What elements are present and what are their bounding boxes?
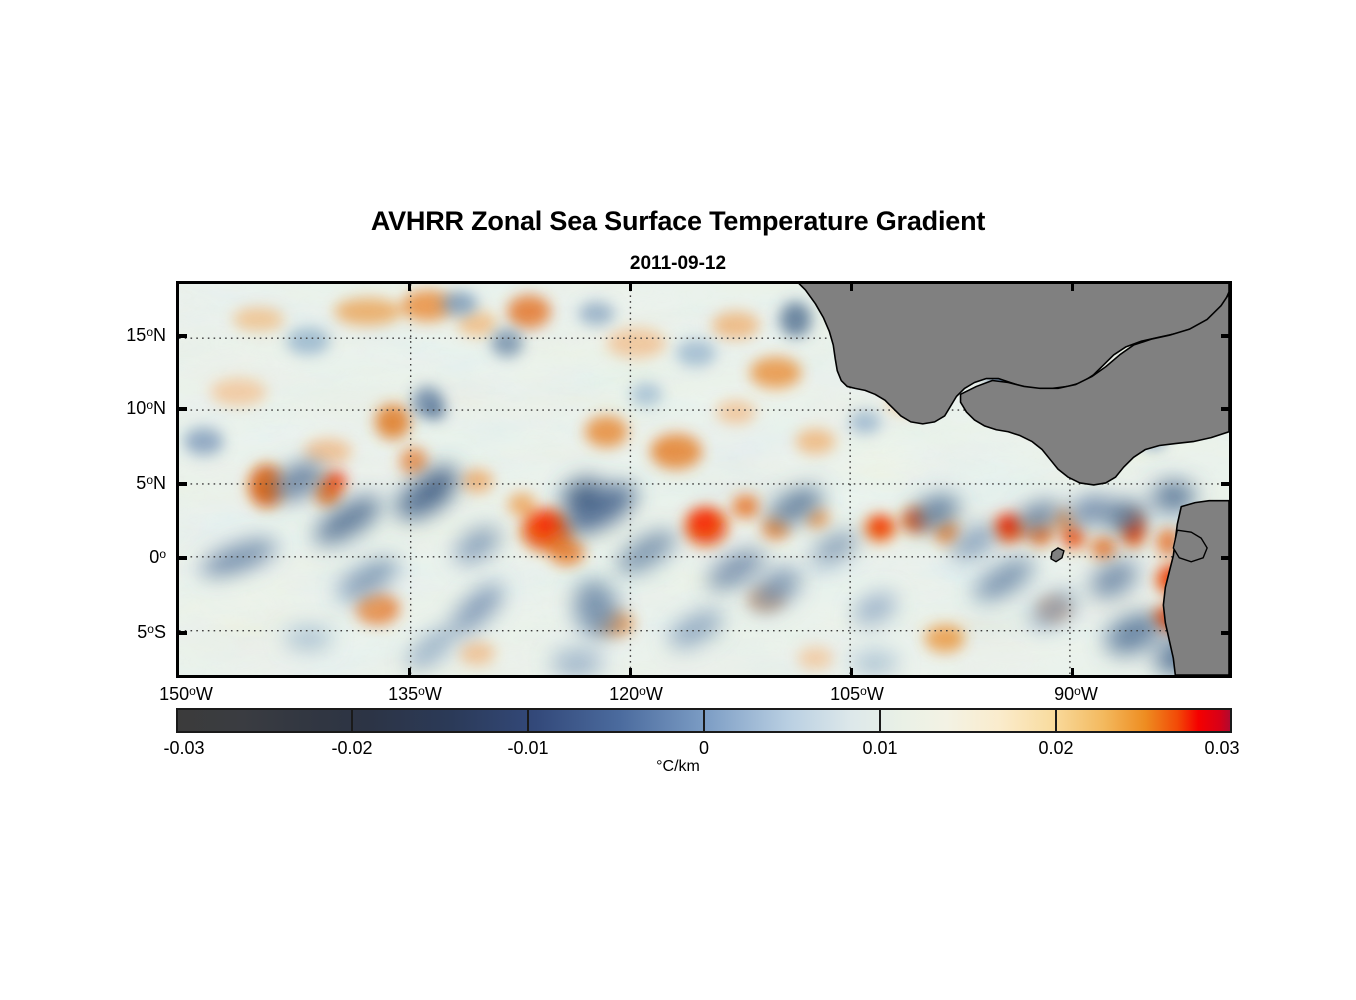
x-label-suffix-1: W <box>425 684 442 704</box>
y-tick-5s <box>176 631 187 635</box>
x-tick-105w <box>850 668 853 678</box>
x-label-suffix-0: W <box>196 684 213 704</box>
y-label-value-4: 5 <box>137 622 147 642</box>
x-axis-label-135w: 135oW <box>388 684 442 705</box>
x-tick-135w-top <box>408 281 411 291</box>
y-label-value-2: 5 <box>136 473 146 493</box>
x-label-suffix-2: W <box>646 684 663 704</box>
y-axis-label-15n: 15oN <box>126 325 166 346</box>
x-label-suffix-4: W <box>1081 684 1098 704</box>
x-axis-label-120w: 120oW <box>609 684 663 705</box>
x-tick-90w <box>1071 668 1074 678</box>
y-axis-label-5s: 5oS <box>137 622 166 643</box>
x-axis-label-90w: 90oW <box>1054 684 1098 705</box>
colorbar-tick-neg002 <box>351 708 353 733</box>
x-label-value-1: 135 <box>388 684 418 704</box>
x-label-suffix-3: W <box>867 684 884 704</box>
y-label-suffix-1: N <box>153 398 166 418</box>
x-axis-label-150w: 150oW <box>159 684 213 705</box>
land-mask <box>179 284 1229 675</box>
x-tick-105w-top <box>850 281 853 291</box>
colorbar-label-4: 0.01 <box>862 738 897 759</box>
figure-canvas: AVHRR Zonal Sea Surface Temperature Grad… <box>0 0 1356 1000</box>
x-label-value-3: 105 <box>830 684 860 704</box>
x-label-value-0: 150 <box>159 684 189 704</box>
colorbar-label-5: 0.02 <box>1038 738 1073 759</box>
x-label-value-2: 120 <box>609 684 639 704</box>
page-title: AVHRR Zonal Sea Surface Temperature Grad… <box>0 206 1356 237</box>
y-label-value-3: 0 <box>149 547 159 567</box>
colorbar-unit-label: °C/km <box>0 758 1356 776</box>
x-tick-135w <box>408 668 411 678</box>
y-tick-10n <box>176 407 187 411</box>
y-tick-15n-right <box>1221 334 1232 338</box>
x-label-value-4: 90 <box>1054 684 1074 704</box>
colorbar-label-6: 0.03 <box>1204 738 1239 759</box>
y-tick-equator <box>176 556 187 560</box>
y-label-suffix-0: N <box>153 325 166 345</box>
y-tick-equator-right <box>1221 556 1232 560</box>
y-label-suffix-2: N <box>153 473 166 493</box>
colorbar-label-3: 0 <box>699 738 709 759</box>
figure-subtitle: 2011-09-12 <box>0 253 1356 275</box>
colorbar-tick-pos002 <box>1055 708 1057 733</box>
y-tick-15n <box>176 334 187 338</box>
y-tick-5n <box>176 482 187 486</box>
y-label-value-1: 10 <box>126 398 146 418</box>
y-axis-label-10n: 10oN <box>126 398 166 419</box>
colorbar-tick-neg001 <box>527 708 529 733</box>
colorbar-tick-pos001 <box>879 708 881 733</box>
y-tick-5s-right <box>1221 631 1232 635</box>
colorbar-tick-zero <box>703 708 705 733</box>
y-axis-label-5n: 5oN <box>136 473 166 494</box>
map-axes[interactable] <box>176 281 1232 678</box>
y-tick-5n-right <box>1221 482 1232 486</box>
colorbar-label-0: -0.03 <box>163 738 204 759</box>
y-axis-label-equator: 0o <box>149 547 166 568</box>
x-axis-label-105w: 105oW <box>830 684 884 705</box>
colorbar-label-1: -0.02 <box>331 738 372 759</box>
y-label-suffix-4: S <box>154 622 166 642</box>
y-tick-10n-right <box>1221 407 1232 411</box>
colorbar-label-2: -0.01 <box>507 738 548 759</box>
x-tick-120w-top <box>629 281 632 291</box>
x-tick-120w <box>629 668 632 678</box>
x-tick-90w-top <box>1071 281 1074 291</box>
y-label-value-0: 15 <box>126 325 146 345</box>
